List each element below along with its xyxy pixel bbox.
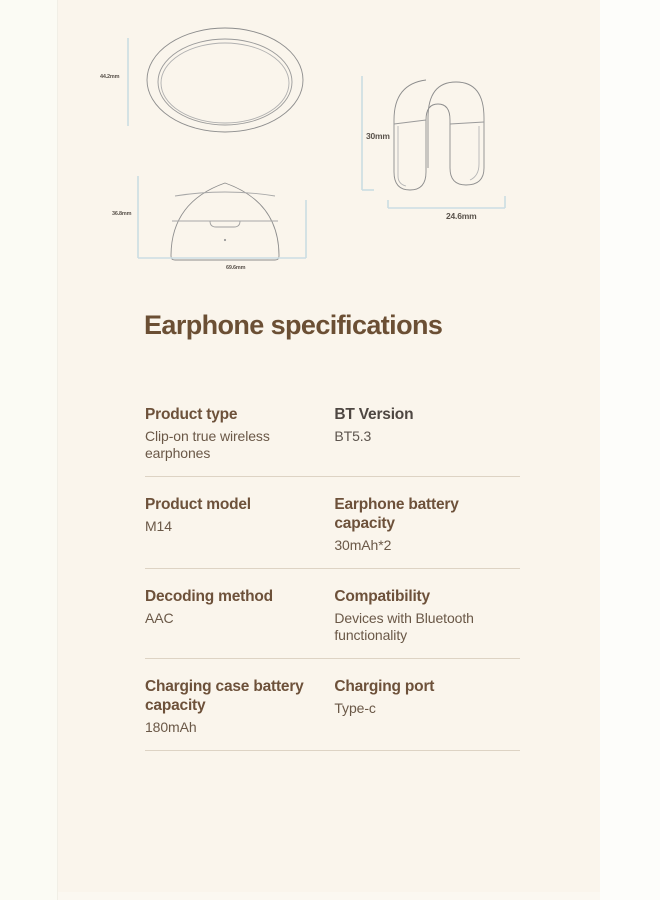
diagram-svg — [58, 0, 600, 292]
spec-label: Product type — [145, 405, 324, 424]
spec-cell-bt-version: BT Version BT5.3 — [334, 405, 520, 471]
dimension-label-case-width: 69.6mm — [226, 265, 245, 271]
spec-cell-compatibility: Compatibility Devices with Bluetooth fun… — [334, 569, 520, 658]
spec-value: 30mAh*2 — [334, 537, 510, 554]
spec-value: Devices with Bluetooth functionality — [334, 610, 510, 644]
earphone-dimension-diagram: 44.2mm 36.8mm 69.6mm 30mm 24.6mm — [58, 0, 600, 292]
spec-label: BT Version — [334, 405, 510, 424]
spec-value: 180mAh — [145, 719, 324, 736]
spec-label: Charging port — [334, 677, 510, 696]
spec-value: Clip-on true wireless earphones — [145, 428, 324, 462]
panel-bottom-fade — [58, 892, 600, 900]
spec-cell-product-model: Product model M14 — [145, 477, 334, 555]
page-title: Earphone specifications — [144, 310, 564, 341]
dimension-label-earbud-width: 24.6mm — [446, 211, 476, 221]
spec-value: M14 — [145, 518, 324, 535]
spec-cell-charging-port: Charging port Type-c — [334, 659, 520, 739]
table-row: Charging case battery capacity 180mAh Ch… — [145, 659, 520, 750]
dimension-label-case-height-top: 44.2mm — [100, 74, 119, 80]
product-spec-page: 44.2mm 36.8mm 69.6mm 30mm 24.6mm Earphon… — [0, 0, 660, 900]
dimension-guides — [128, 38, 505, 258]
spec-cell-earphone-battery-capacity: Earphone battery capacity 30mAh*2 — [334, 477, 520, 568]
spec-cell-product-type: Product type Clip-on true wireless earph… — [145, 405, 334, 476]
content-panel: 44.2mm 36.8mm 69.6mm 30mm 24.6mm Earphon… — [58, 0, 600, 892]
spec-cell-charging-case-battery-capacity: Charging case battery capacity 180mAh — [145, 659, 334, 750]
left-edge-band — [0, 0, 57, 900]
specifications-table: Product type Clip-on true wireless earph… — [145, 405, 520, 751]
spec-cell-decoding-method: Decoding method AAC — [145, 569, 334, 641]
spec-value: BT5.3 — [334, 428, 510, 445]
spec-value: AAC — [145, 610, 324, 627]
right-edge-band — [600, 0, 660, 900]
table-row: Product model M14 Earphone battery capac… — [145, 477, 520, 568]
table-row: Decoding method AAC Compatibility Device… — [145, 569, 520, 658]
spec-label: Product model — [145, 495, 324, 514]
dimension-label-case-height-front: 36.8mm — [112, 211, 131, 217]
table-row: Product type Clip-on true wireless earph… — [145, 405, 520, 476]
spec-label: Decoding method — [145, 587, 324, 606]
earbud-view-drawing — [394, 80, 484, 190]
spec-label: Earphone battery capacity — [334, 495, 510, 533]
spec-label: Compatibility — [334, 587, 510, 606]
spec-label: Charging case battery capacity — [145, 677, 324, 715]
row-divider — [145, 750, 520, 751]
case-front-view-drawing — [171, 183, 279, 260]
dimension-label-earbud-height: 30mm — [366, 131, 390, 141]
case-top-view-drawing — [147, 28, 303, 132]
spec-value: Type-c — [334, 700, 510, 717]
